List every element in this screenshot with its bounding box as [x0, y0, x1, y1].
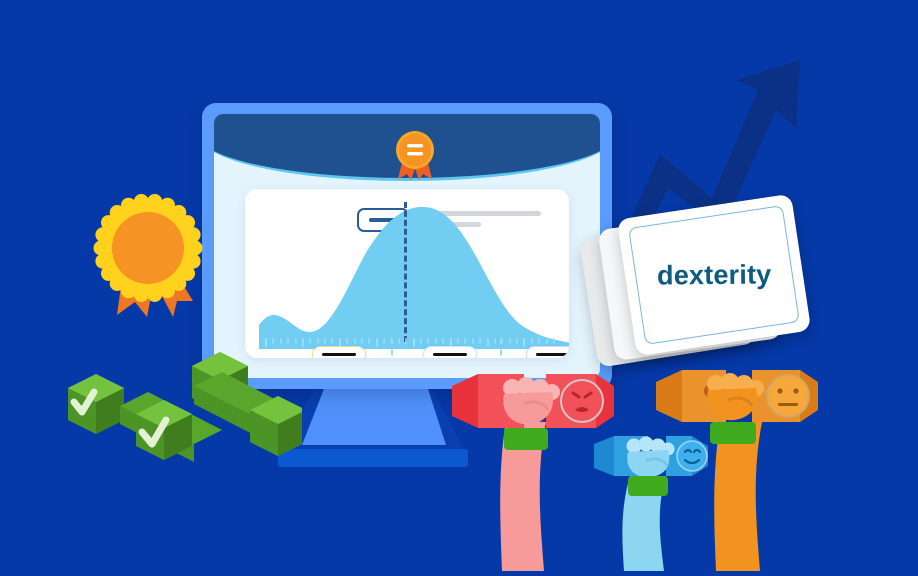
axis-tick — [405, 338, 407, 344]
axis-tick — [487, 338, 489, 347]
chart-panel — [245, 189, 569, 358]
axis-tick — [368, 338, 370, 344]
award-rosette-small — [392, 129, 438, 181]
axis-tick — [472, 338, 474, 344]
axis-tick — [376, 338, 378, 347]
bell-curve-chart — [251, 199, 563, 358]
arm-blue — [594, 436, 708, 571]
annotation-leader-line — [500, 338, 502, 358]
axis-tick — [317, 338, 319, 344]
axis-tick — [494, 338, 496, 344]
chart-annotation-pill[interactable] — [312, 346, 366, 358]
flashcard-front[interactable]: dexterity — [617, 194, 811, 356]
axis-tick — [479, 338, 481, 344]
axis-tick — [546, 338, 548, 344]
illustration-stage: dexterity — [0, 0, 918, 571]
axis-tick — [383, 338, 385, 344]
axis-tick — [309, 338, 311, 344]
axis-tick — [553, 338, 555, 344]
chart-annotation-pill[interactable] — [526, 346, 569, 358]
chart-annotation-pill[interactable] — [423, 346, 477, 358]
axis-tick — [523, 338, 525, 347]
axis-tick — [420, 338, 422, 344]
wristband-pink — [504, 428, 548, 450]
annotation-text-redacted — [433, 353, 467, 356]
axis-tick — [361, 338, 363, 344]
wristband-orange — [710, 422, 756, 444]
axis-tick — [331, 338, 333, 344]
axis-tick — [413, 338, 415, 347]
axis-tick — [531, 338, 533, 344]
axis-tick — [346, 338, 348, 344]
axis-tick — [464, 338, 466, 344]
wristband-blue — [628, 476, 668, 496]
axis-tick — [538, 338, 540, 344]
arm-pink — [452, 374, 614, 571]
annotation-text-redacted — [322, 353, 356, 356]
axis-tick — [354, 338, 356, 344]
axis-tick — [398, 338, 400, 344]
axis-tick — [457, 338, 459, 344]
axis-tick — [442, 338, 444, 344]
award-rosette-large — [93, 189, 209, 319]
axis-tick — [324, 338, 326, 344]
arm-weights-group — [0, 360, 918, 571]
flashcard-stack[interactable]: dexterity — [588, 206, 818, 376]
axis-tick — [516, 338, 518, 344]
flashcard-inner-border: dexterity — [628, 205, 800, 345]
axis-tick — [509, 338, 511, 344]
axis-tick — [435, 338, 437, 344]
annotation-leader-line — [391, 338, 393, 358]
x-axis-ticks — [265, 338, 553, 348]
axis-tick — [427, 338, 429, 344]
annotation-text-redacted — [536, 353, 569, 356]
axis-tick — [302, 338, 304, 347]
bell-curve-area — [259, 199, 569, 349]
peak-indicator-line — [404, 202, 407, 342]
flashcard-word: dexterity — [657, 259, 772, 291]
